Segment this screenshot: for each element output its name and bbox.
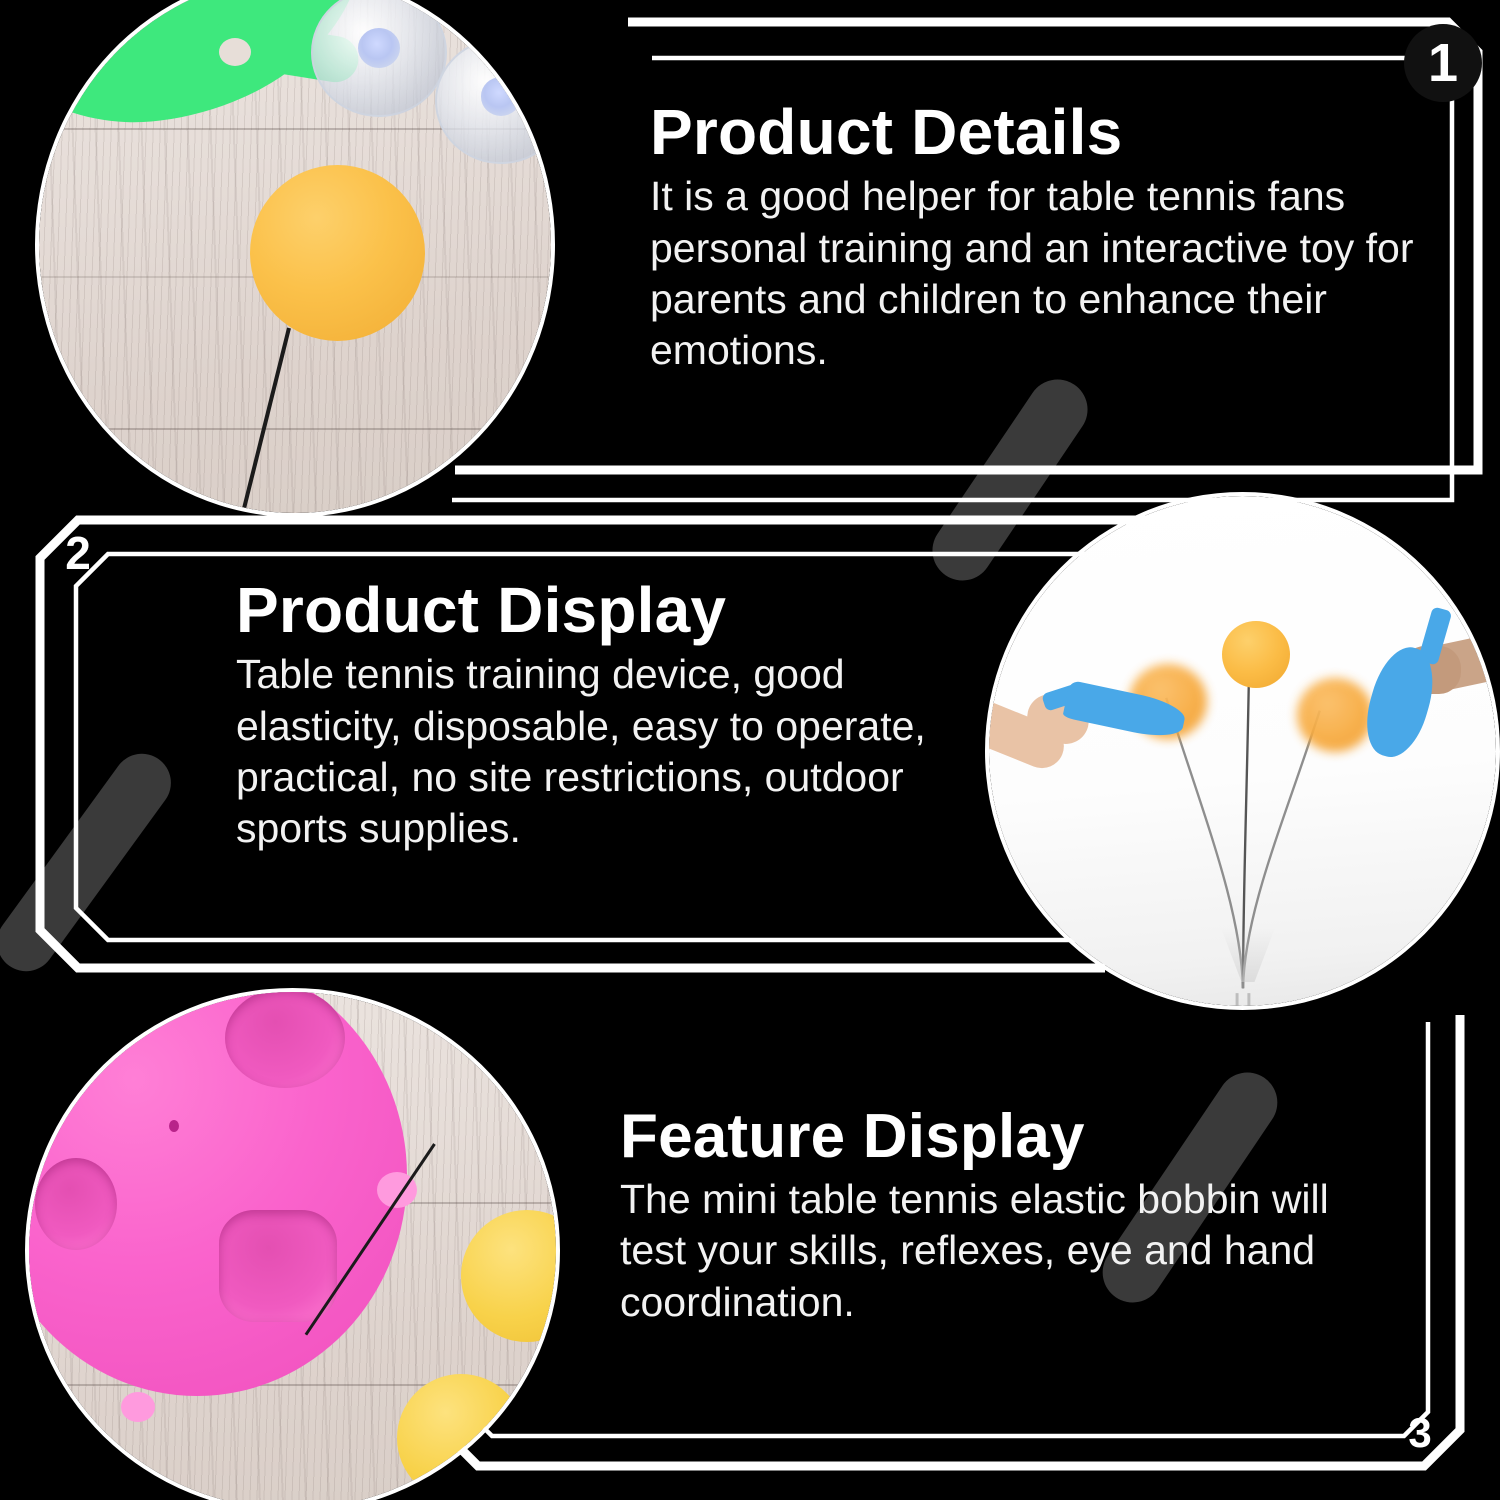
orange-ball-icon: [1222, 621, 1290, 688]
panel-3-title: Feature Display: [620, 1105, 1360, 1168]
panel-1-title: Product Details: [650, 100, 1450, 165]
panel-1-body: It is a good helper for table tennis fan…: [650, 171, 1440, 376]
base-cup-well: [219, 1210, 337, 1322]
photo-3-content: [29, 992, 556, 1500]
badge-label: 2: [65, 526, 91, 580]
yellow-ball-icon: [397, 1374, 525, 1500]
wood-plank-line: [39, 428, 551, 430]
panel-2-body: Table tennis training device, good elast…: [236, 649, 926, 854]
panel-3-body: The mini table tennis elastic bobbin wil…: [620, 1174, 1350, 1328]
panel-number-badge-2: 2: [52, 524, 104, 582]
panel-2-title: Product Display: [236, 578, 936, 643]
photo-pink-base: [25, 988, 560, 1500]
orange-ball-icon: [1297, 678, 1373, 752]
panel-3-text: Feature Display The mini table tennis el…: [620, 1105, 1360, 1328]
photo-1-content: [39, 0, 551, 513]
badge-label: 1: [1428, 32, 1458, 94]
badge-label: 3: [1408, 1409, 1431, 1457]
photo-product-parts: [35, 0, 555, 517]
base-cup-well: [225, 992, 345, 1088]
panel-number-badge-3: 3: [1396, 1406, 1444, 1460]
infographic-canvas: 1 2 3 Product Details It is a good helpe…: [0, 0, 1500, 1500]
decorative-streak-2: [0, 742, 182, 982]
green-paddle-hole: [219, 38, 251, 66]
base-cup-well: [35, 1158, 117, 1250]
photo-2-content: [989, 496, 1496, 1006]
suction-cup-center: [481, 77, 522, 116]
base-vent-hole: [169, 1120, 179, 1132]
orange-ball-icon: [250, 165, 425, 341]
base-tab: [121, 1392, 155, 1422]
panel-2-text: Product Display Table tennis training de…: [236, 578, 936, 854]
photo-training-in-use: [985, 492, 1500, 1010]
panel-number-badge-1: 1: [1404, 24, 1482, 102]
panel-1-text: Product Details It is a good helper for …: [650, 100, 1450, 376]
suction-cup-center: [358, 28, 400, 68]
